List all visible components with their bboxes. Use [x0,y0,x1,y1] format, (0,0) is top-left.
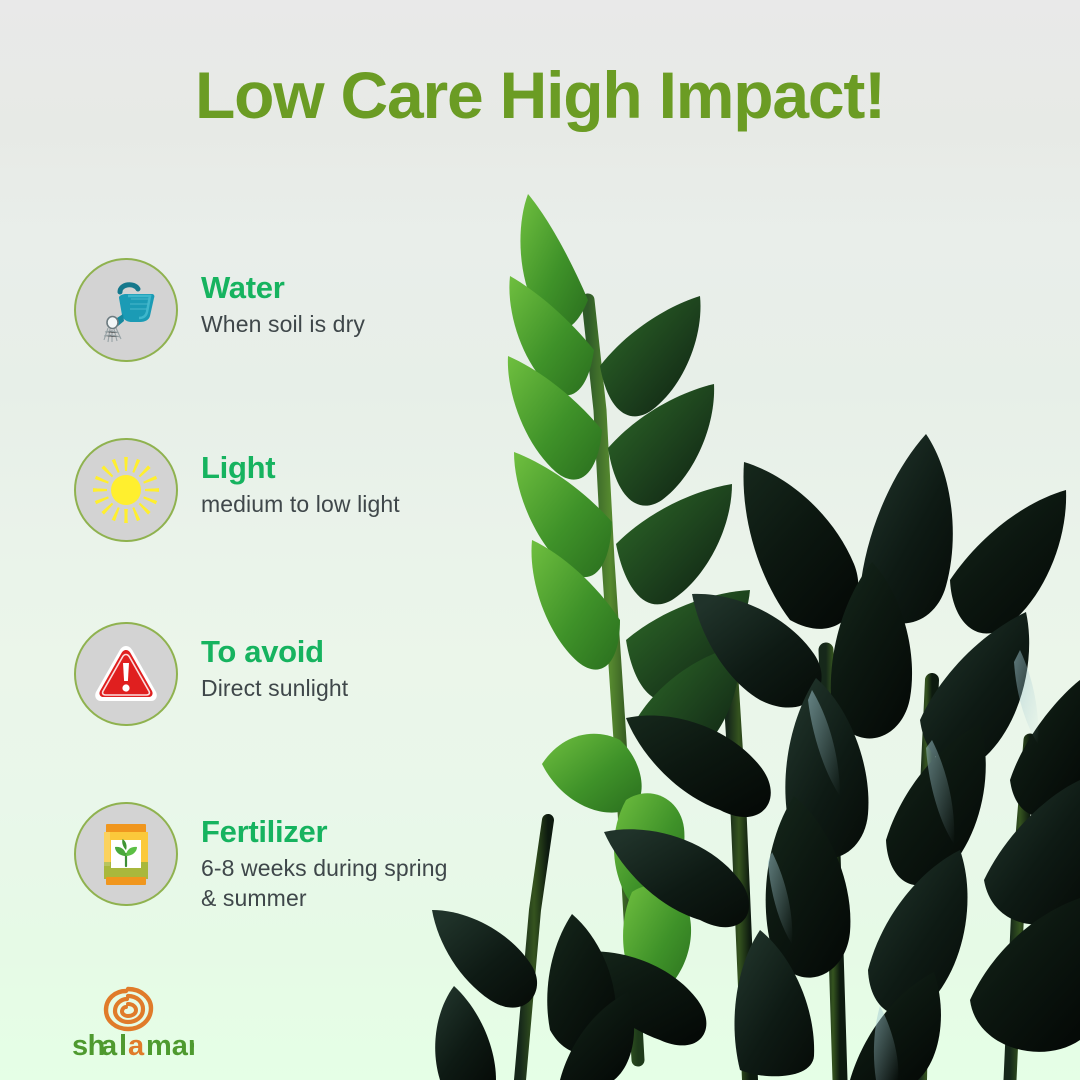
care-title-water: Water [201,272,365,305]
plant-care-infographic: Low Care High Impact! Water When soil is… [0,0,1080,1080]
care-icon-badge-avoid [74,622,178,726]
logo-text-part5: mar [146,1030,194,1062]
care-desc-light: medium to low light [201,489,400,519]
rose-spiral-icon [100,986,156,1032]
plant-stem-group [520,300,1030,1080]
care-item-water: Water When soil is dry [74,258,365,362]
care-icon-badge-water [74,258,178,362]
care-text-water: Water When soil is dry [201,258,365,339]
brand-logo[interactable]: sh a l a mar [72,986,242,1063]
bright-leaves-group [508,194,750,1002]
care-desc-avoid: Direct sunlight [201,673,348,703]
care-item-light: Light medium to low light [74,438,400,542]
care-icon-badge-light [74,438,178,542]
care-icon-badge-fertilizer [74,802,178,906]
care-item-avoid: To avoid Direct sunlight [74,622,348,726]
brand-wordmark: sh a l a mar [72,1029,194,1063]
fertilizer-bag-icon [94,820,158,888]
care-title-light: Light [201,452,400,485]
care-item-fertilizer: Fertilizer 6-8 weeks during spring & sum… [74,802,451,914]
care-desc-fertilizer: 6-8 weeks during spring & summer [201,853,451,914]
care-text-light: Light medium to low light [201,438,400,519]
logo-text-part1: sh [72,1030,105,1062]
logo-text-part2: a [101,1030,118,1062]
care-text-avoid: To avoid Direct sunlight [201,622,348,703]
page-title: Low Care High Impact! [0,62,1080,128]
logo-text-part3: l [119,1030,127,1062]
warning-triangle-icon [93,643,159,705]
care-title-fertilizer: Fertilizer [201,816,451,849]
watering-can-icon [90,274,162,346]
sun-icon [89,453,163,527]
care-desc-water: When soil is dry [201,309,365,339]
care-title-avoid: To avoid [201,636,348,669]
dark-leaves-group [432,434,1080,1080]
plant-image [320,180,1080,1080]
logo-text-part4: a [128,1030,145,1062]
care-text-fertilizer: Fertilizer 6-8 weeks during spring & sum… [201,802,451,914]
